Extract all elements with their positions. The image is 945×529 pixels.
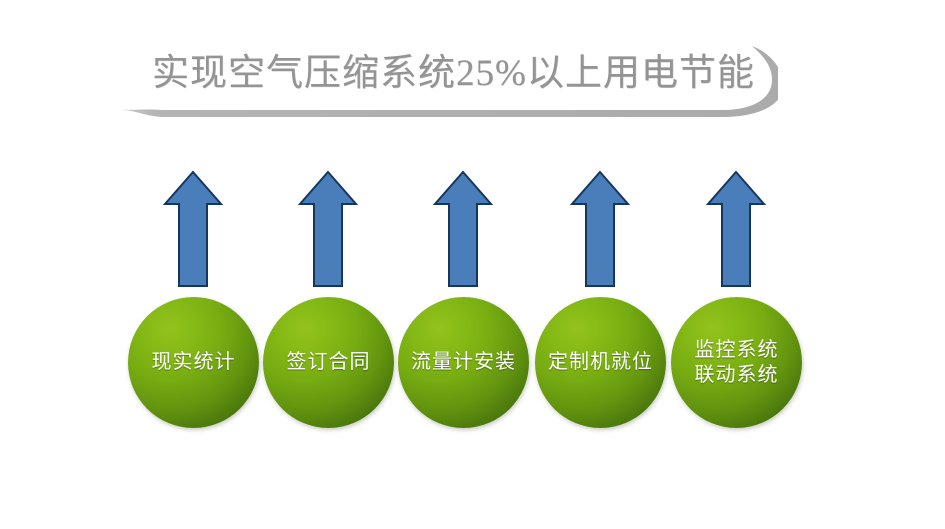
arrow-up-icon-1 <box>163 170 223 288</box>
process-step-3[interactable]: 流量计安装 <box>398 297 529 428</box>
process-step-label: 流量计安装 <box>407 350 520 375</box>
process-step-2[interactable]: 签订合同 <box>263 297 394 428</box>
slide-canvas: 实现空气压缩系统25%以上用电节能 现实统计 签订合同 流量计安装 定制机就位 … <box>0 0 945 529</box>
process-step-1[interactable]: 现实统计 <box>128 297 259 428</box>
arrow-up-icon-4 <box>570 170 630 288</box>
process-step-label: 现实统计 <box>148 350 240 375</box>
title-banner: 实现空气压缩系统25%以上用电节能 <box>118 40 778 122</box>
arrow-up-icon-3 <box>433 170 493 288</box>
process-step-5[interactable]: 监控系统 联动系统 <box>671 297 802 428</box>
process-step-label: 签订合同 <box>283 350 375 375</box>
page-title: 实现空气压缩系统25%以上用电节能 <box>152 46 752 102</box>
process-step-label: 定制机就位 <box>544 350 657 375</box>
arrow-up-icon-5 <box>706 170 766 288</box>
process-step-4[interactable]: 定制机就位 <box>535 297 666 428</box>
arrow-up-icon-2 <box>298 170 358 288</box>
process-step-label: 监控系统 联动系统 <box>691 338 783 388</box>
